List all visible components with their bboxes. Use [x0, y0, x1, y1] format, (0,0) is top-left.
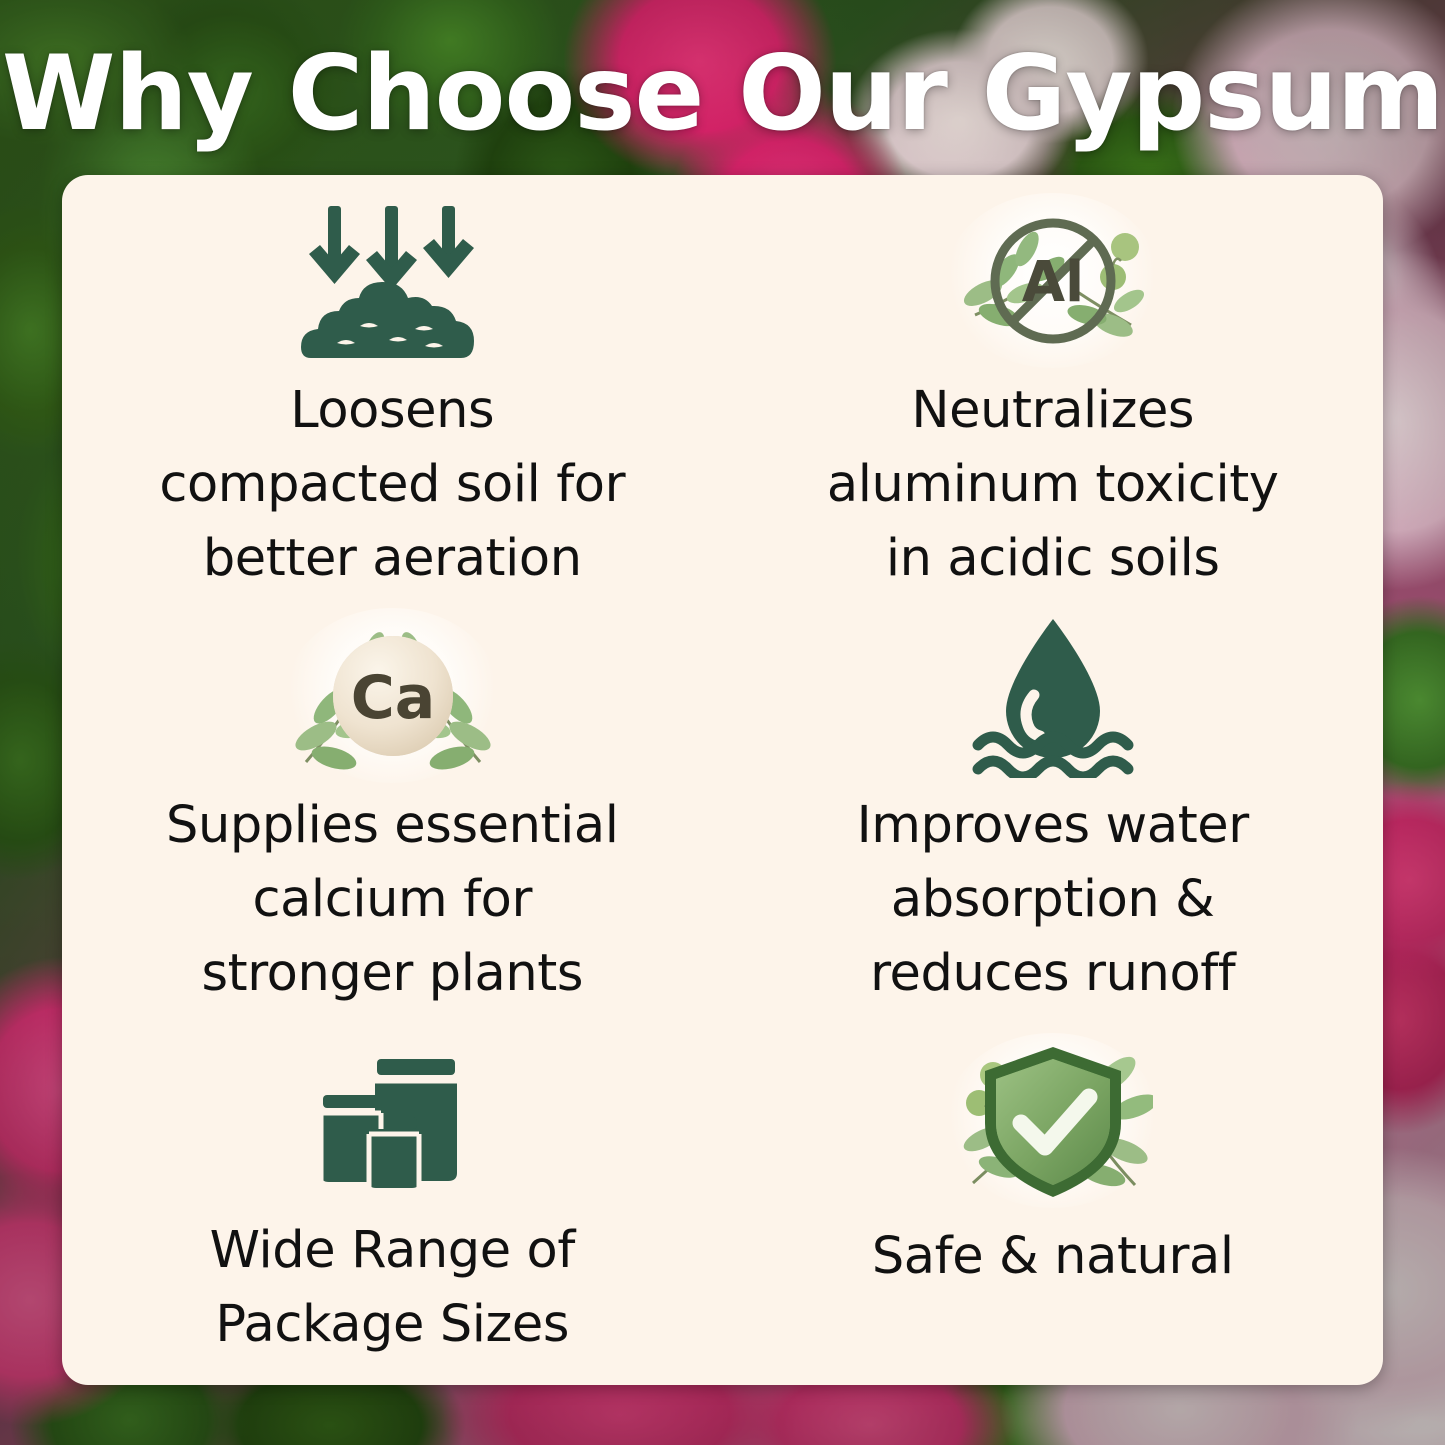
feature-label: Safe & natural	[872, 1214, 1234, 1294]
no-aluminum-icon: Al	[945, 193, 1160, 368]
feature-label: Wide Range of Package Sizes	[210, 1214, 575, 1362]
feature-label: Supplies essential calcium for stronger …	[166, 789, 619, 1011]
water-drop-waves-icon	[968, 608, 1138, 783]
feature-supplies-calcium: Ca Supplies essential calcium for strong…	[62, 596, 723, 1011]
features-card: Loosens compacted soil for better aerati…	[62, 175, 1383, 1385]
feature-package-sizes: Wide Range of Package Sizes	[62, 1011, 723, 1385]
shield-check-leaves-icon	[945, 1033, 1160, 1208]
feature-label: Improves water absorption & reduces runo…	[857, 789, 1249, 1011]
package-bags-icon	[305, 1033, 480, 1208]
soil-arrows-icon	[297, 193, 487, 368]
feature-loosens-soil: Loosens compacted soil for better aerati…	[62, 175, 723, 596]
feature-label: Neutralizes aluminum toxicity in acidic …	[827, 374, 1279, 596]
page-title: Why Choose Our Gypsum	[0, 38, 1445, 150]
infographic-poster: Why Choose Our Gypsum	[0, 0, 1445, 1445]
feature-safe-natural: Safe & natural	[723, 1011, 1384, 1385]
feature-label: Loosens compacted soil for better aerati…	[159, 374, 625, 596]
calcium-sphere-icon: Ca	[285, 608, 500, 783]
aluminum-symbol-label: Al	[1021, 250, 1084, 315]
feature-neutralizes-aluminum: Al Neutralizes aluminum toxicity in acid…	[723, 175, 1384, 596]
feature-improves-water: Improves water absorption & reduces runo…	[723, 596, 1384, 1011]
calcium-symbol-label: Ca	[350, 663, 435, 733]
